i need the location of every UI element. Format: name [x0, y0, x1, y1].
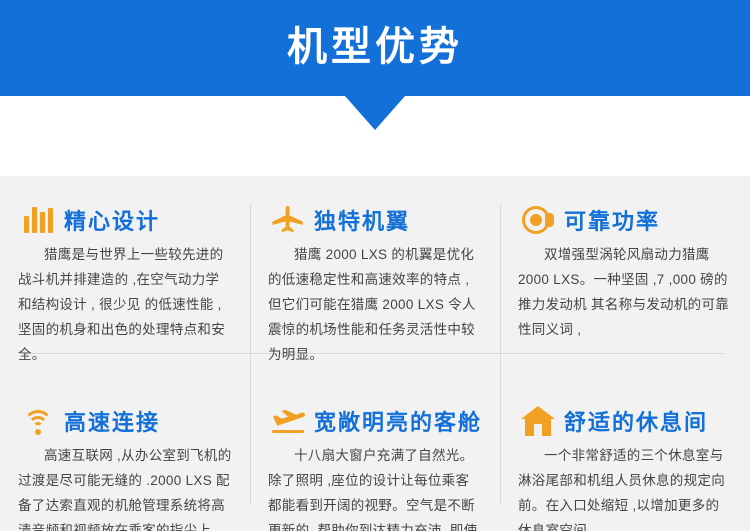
card-header: 可靠功率	[518, 202, 732, 238]
card-title: 宽敞明亮的客舱	[314, 405, 482, 437]
advantage-card-wing: 独特机翼 猎鹰 2000 LXS 的机翼是优化的低速稳定性和高速效率的特点 ,但…	[250, 176, 500, 377]
advantage-card-cabin: 宽敞明亮的客舱 十八扇大窗户充满了自然光。除了照明 ,座位的设计让每位乘客都能看…	[250, 377, 500, 531]
page-root: 机型优势 精心设计 猎鹰是与世界上一些较先进的战斗机并排建造的 ,在空气动力学和…	[0, 0, 750, 531]
card-title: 独特机翼	[314, 204, 410, 236]
jet-engine-icon	[518, 202, 558, 238]
lounge-icon	[518, 403, 558, 439]
header-banner: 机型优势	[0, 0, 750, 96]
card-text: 一个非常舒适的三个休息室与淋浴尾部和机组人员休息的规定向前。在入口处缩短 ,以增…	[518, 443, 732, 531]
card-text: 十八扇大窗户充满了自然光。除了照明 ,座位的设计让每位乘客都能看到开阔的视野。空…	[268, 443, 482, 531]
advantage-card-connectivity: 高速连接 高速互联网 ,从办公室到飞机的过渡是尽可能无缝的 .2000 LXS …	[0, 377, 250, 531]
advantages-grid: 精心设计 猎鹰是与世界上一些较先进的战斗机并排建造的 ,在空气动力学和结构设计 …	[0, 176, 750, 531]
page-title: 机型优势	[0, 22, 750, 72]
airplane-takeoff-icon	[268, 403, 308, 439]
advantage-card-lounge: 舒适的休息间 一个非常舒适的三个休息室与淋浴尾部和机组人员休息的规定向前。在入口…	[500, 377, 750, 531]
banner-arrow-decoration	[345, 96, 405, 130]
card-header: 高速连接	[18, 403, 232, 439]
advantages-section: 精心设计 猎鹰是与世界上一些较先进的战斗机并排建造的 ,在空气动力学和结构设计 …	[0, 176, 750, 531]
card-text: 猎鹰 2000 LXS 的机翼是优化的低速稳定性和高速效率的特点 ,但它们可能在…	[268, 242, 482, 367]
card-title: 高速连接	[64, 405, 160, 437]
card-title: 舒适的休息间	[564, 405, 708, 437]
card-header: 独特机翼	[268, 202, 482, 238]
card-text: 双增强型涡轮风扇动力猎鹰 2000 LXS。一种坚固 ,7 ,000 磅的推力发…	[518, 242, 732, 342]
airplane-icon	[268, 202, 308, 238]
card-title: 精心设计	[64, 204, 160, 236]
card-header: 舒适的休息间	[518, 403, 732, 439]
card-header: 宽敞明亮的客舱	[268, 403, 482, 439]
card-header: 精心设计	[18, 202, 232, 238]
card-title: 可靠功率	[564, 204, 660, 236]
bar-chart-icon	[18, 202, 58, 238]
wifi-icon	[18, 403, 58, 439]
card-text: 高速互联网 ,从办公室到飞机的过渡是尽可能无缝的 .2000 LXS 配备了达索…	[18, 443, 232, 531]
advantage-card-power: 可靠功率 双增强型涡轮风扇动力猎鹰 2000 LXS。一种坚固 ,7 ,000 …	[500, 176, 750, 377]
card-text: 猎鹰是与世界上一些较先进的战斗机并排建造的 ,在空气动力学和结构设计 , 很少见…	[18, 242, 232, 367]
advantage-card-design: 精心设计 猎鹰是与世界上一些较先进的战斗机并排建造的 ,在空气动力学和结构设计 …	[0, 176, 250, 377]
